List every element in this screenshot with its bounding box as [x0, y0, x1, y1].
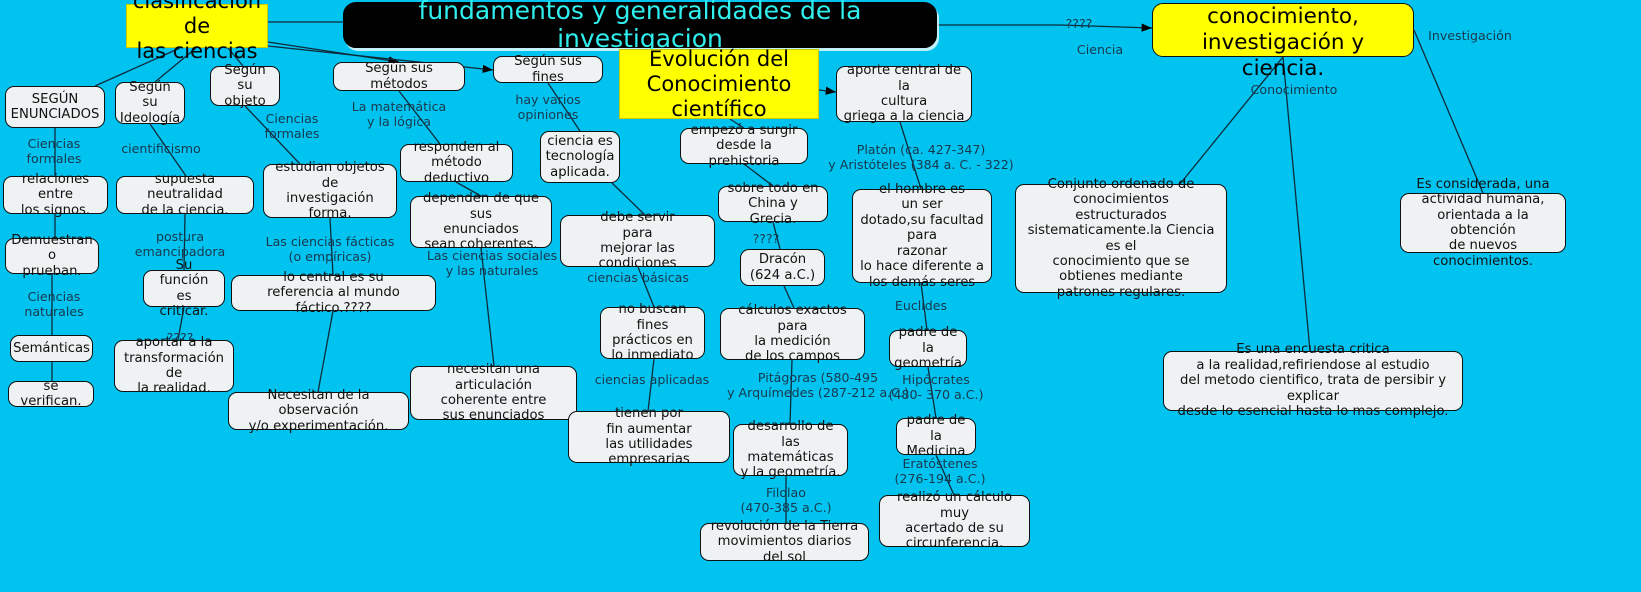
link-label-lbl_ciencias_aplicadas: ciencias aplicadas [595, 373, 709, 388]
node-dependen[interactable]: dependen de que sus enunciados sean cohe… [410, 196, 552, 248]
node-ciencia_tecnologia[interactable]: ciencia es tecnología aplicada. [540, 131, 620, 183]
link-label-lbl_conocimiento: Conocimiento [1251, 83, 1338, 98]
node-no_buscan[interactable]: no buscan fines prácticos en lo inmediat… [600, 307, 705, 359]
link-label-lbl_ciencias_naturales: Ciencias naturales [24, 290, 83, 319]
node-hombre_ser[interactable]: el hombre es un ser dotado,su facultad p… [852, 189, 992, 283]
link-label-lbl_platon: Platón (ca. 427-347) y Aristóteles (384 … [828, 143, 1013, 172]
link-label-lbl_matematica_logica: La matemática y la lógica [352, 100, 446, 129]
link-label-lbl_sociales_naturales: Las ciencias sociales y las naturales [427, 249, 557, 278]
link-label-lbl_postura: postura emancipadora [135, 230, 225, 259]
node-conjunto_ordenado[interactable]: Conjunto ordenado de conocimientos estru… [1015, 184, 1227, 293]
node-calculos[interactable]: cálculos exactos para la medición de los… [720, 308, 865, 360]
node-segun_objeto[interactable]: Según su objeto [210, 66, 280, 106]
node-relaciones_signos[interactable]: relaciones entre los signos. [3, 176, 108, 214]
node-segun_ideologia[interactable]: Según su Ideología [115, 82, 185, 124]
edge-relacion-to-considerada [1414, 30, 1483, 193]
node-responden[interactable]: responden al método deductivo [400, 144, 513, 182]
link-label-lbl_euclides: Euclides [895, 299, 947, 314]
node-revolucion_tierra[interactable]: revolución de la Tierra movimientos diar… [700, 523, 869, 561]
link-label-lbl_eratostenes: Eratóstenes (276-194 a.C.) [895, 457, 986, 486]
link-label-lbl_ciencia: Ciencia [1077, 43, 1123, 58]
node-evolucion[interactable]: Evolución del Conocimiento científico [619, 49, 819, 119]
link-label-lbl_ciencias_basicas: ciencias básicas [587, 271, 689, 286]
edge-fundamentos-to-relacion [937, 25, 1152, 28]
link-label-lbl_hipocrates: Hipócrates (480- 370 a.C.) [889, 373, 984, 402]
edge-relacion-to-es_encuesta [1283, 57, 1310, 351]
node-debe_servir[interactable]: debe servir para mejorar las condiciones [560, 215, 715, 267]
node-segun_enunciados[interactable]: SEGÚN ENUNCIADOS [5, 86, 105, 128]
link-label-lbl_pitagoras: Pitágoras (580-495 y Arquímedes (287-212… [727, 371, 909, 400]
node-desarrollo_mat[interactable]: desarrollo de las matemáticas y la geome… [733, 424, 848, 476]
edge-lo_central-to-necesitan_observ [318, 311, 333, 392]
node-fundamentos[interactable]: fundamentos y generalidades de la invest… [343, 2, 937, 48]
link-label-lbl_ciencias_formales_2: Ciencias formales [265, 112, 320, 141]
node-empezo_surgir[interactable]: empezó a surgir desde la prehistoria [680, 128, 808, 164]
node-necesitan_articul[interactable]: necesitan una articulación coherente ent… [410, 366, 577, 420]
link-label-lbl_interrog_top: ???? [1066, 17, 1093, 32]
node-se_verifican[interactable]: se verifican. [8, 381, 94, 407]
node-estudian_objetos[interactable]: estudian objetos de investigación forma. [263, 164, 397, 218]
node-sobre_todo_china[interactable]: sobre todo en China y Grecia. [718, 186, 828, 222]
link-label-lbl_hay_varios: hay varios opiniones [515, 93, 580, 122]
node-lo_central[interactable]: lo central es su referencia al mundo fác… [231, 275, 436, 311]
node-supuesta_neutralidad[interactable]: supuesta neutralidad de la ciencia. [116, 176, 254, 214]
link-label-lbl_interrog_mid: ???? [753, 232, 780, 247]
node-considerada[interactable]: Es considerada, una actividad humana, or… [1400, 193, 1566, 253]
node-es_encuesta[interactable]: Es una encuesta critica a la realidad,re… [1163, 351, 1463, 411]
node-demuestran[interactable]: Demuestran o prueban. [5, 238, 99, 274]
node-semanticas[interactable]: Semánticas [10, 335, 93, 362]
link-label-lbl_ciencias_formales_1: Ciencias formales [27, 137, 82, 166]
node-tienen_por_fin[interactable]: tienen por fin aumentar las utilidades e… [568, 411, 730, 463]
node-aporte_central[interactable]: aporte central de la cultura griega a la… [836, 66, 972, 122]
node-su_funcion[interactable]: Su función es criticar. [143, 270, 225, 307]
node-relacion[interactable]: Relación entre conocimiento, investigaci… [1152, 3, 1414, 57]
link-label-lbl_investigacion: Investigación [1428, 29, 1512, 44]
concept-map-canvas: Ciencias formalescientificismoCiencias f… [0, 0, 1641, 592]
node-aportar[interactable]: aportar a la transformación de la realid… [114, 340, 234, 392]
link-label-lbl_filolao: Filolao (470-385 a.C.) [741, 486, 832, 515]
node-padre_medicina[interactable]: padre de la Medicina [896, 418, 976, 455]
link-label-lbl_cientificismo: cientificismo [121, 142, 200, 157]
node-realizo_calculo[interactable]: realizó un cálculo muy acertado de su ci… [879, 495, 1030, 547]
node-segun_fines[interactable]: Según sus fines [493, 56, 603, 83]
link-label-lbl_facticas: Las ciencias fácticas (o empíricas) [266, 235, 395, 264]
node-segun_metodos[interactable]: Según sus métodos [333, 62, 465, 91]
node-padre_geometria[interactable]: padre de la geometría [889, 330, 967, 367]
node-dracon[interactable]: Dracón (624 a.C.) [740, 249, 825, 286]
node-necesitan_observ[interactable]: Necesitan de la observación y/o experime… [228, 392, 409, 430]
node-clasificacion[interactable]: clasificacion de las ciencias [126, 4, 268, 48]
edge-evolucion-to-aporte_central [819, 90, 836, 92]
